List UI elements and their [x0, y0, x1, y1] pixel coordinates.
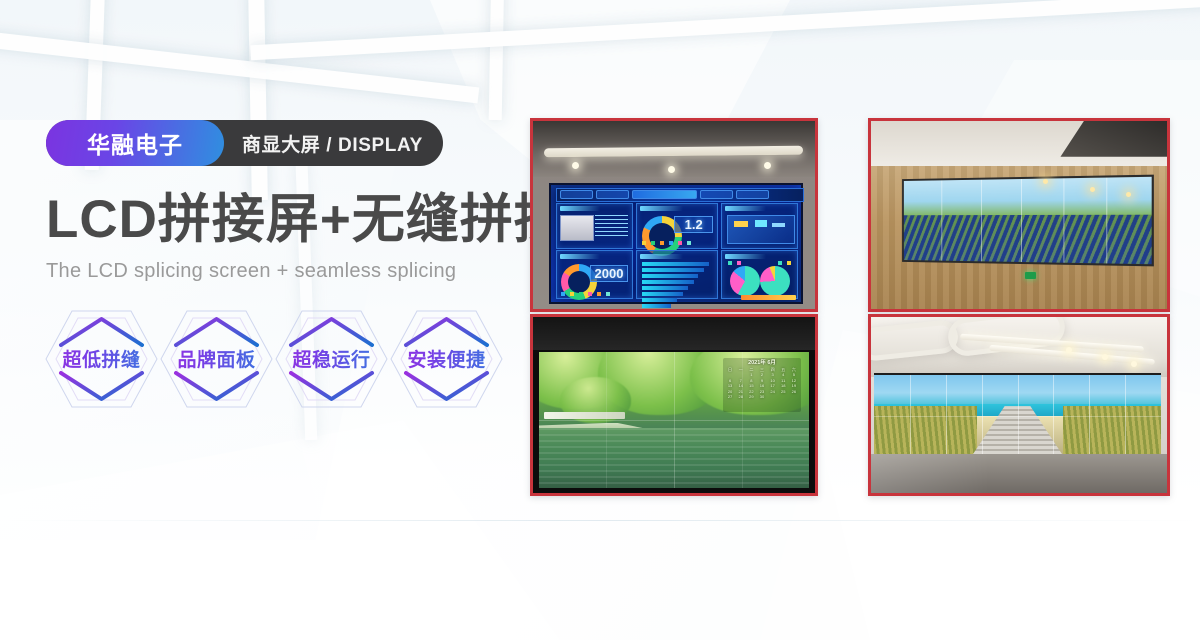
- calendar-title: 2021年 6月: [725, 360, 800, 367]
- page-subtitle: The LCD splicing screen + seamless splic…: [46, 260, 566, 283]
- page-title: LCD拼接屏+无缝拼接: [46, 192, 566, 248]
- promo-banner: 华融电子 商显大屏 / DISPLAY LCD拼接屏+无缝拼接 The LCD …: [0, 0, 1200, 640]
- feature-hexagon: 超稳运行: [272, 305, 391, 413]
- feature-hexagon-list: 超低拼缝 品牌面板 超稳运行: [42, 305, 566, 413]
- feature-label: 品牌面板: [157, 305, 276, 413]
- photo-panel-solar-wall[interactable]: [868, 118, 1170, 312]
- video-wall-beach: [874, 373, 1161, 459]
- banner-text-column: 华融电子 商显大屏 / DISPLAY LCD拼接屏+无缝拼接 The LCD …: [46, 120, 566, 413]
- feature-hexagon: 品牌面板: [157, 305, 276, 413]
- photo-panel-willow-wall[interactable]: 2021年 6月 日 一 二 三 四 五 六: [530, 314, 818, 496]
- calendar-day: 24: [767, 389, 778, 394]
- product-photo-grid: 1.2: [530, 118, 1170, 494]
- background-polygon: [0, 420, 560, 640]
- background-floor-line: [0, 520, 1200, 521]
- calendar-day: 26: [789, 389, 800, 394]
- dashboard-screen: 1.2: [549, 183, 804, 304]
- brand-category: 商显大屏 / DISPLAY: [242, 130, 423, 157]
- video-wall-willow: 2021年 6月 日 一 二 三 四 五 六: [539, 352, 810, 488]
- background-beam: [0, 29, 479, 104]
- calendar-day: 25: [778, 389, 789, 394]
- calendar-day: 27: [725, 394, 736, 399]
- calendar-overlay: 2021年 6月 日 一 二 三 四 五 六: [723, 358, 802, 412]
- photo-panel-dashboard-wall[interactable]: 1.2: [530, 118, 818, 312]
- feature-label: 安装便捷: [387, 305, 506, 413]
- background-beam: [489, 0, 505, 120]
- video-wall-solar: [902, 175, 1153, 266]
- brand-pill: 华融电子 商显大屏 / DISPLAY: [46, 120, 443, 166]
- feature-label: 超稳运行: [272, 305, 391, 413]
- feature-hexagon: 安装便捷: [387, 305, 506, 413]
- photo-panel-beach-wall[interactable]: [868, 314, 1170, 496]
- brand-name: 华融电子: [46, 120, 224, 166]
- background-beam: [250, 0, 1200, 60]
- feature-label: 超低拼缝: [42, 305, 161, 413]
- feature-hexagon: 超低拼缝: [42, 305, 161, 413]
- calendar-day: 30: [757, 394, 768, 399]
- calendar-day: 29: [746, 394, 757, 399]
- brand-badge: 华融电子 商显大屏 / DISPLAY: [46, 120, 566, 166]
- calendar-days: 1 2 3 4 5 6 7 8 9 10 11 12 13: [725, 372, 800, 399]
